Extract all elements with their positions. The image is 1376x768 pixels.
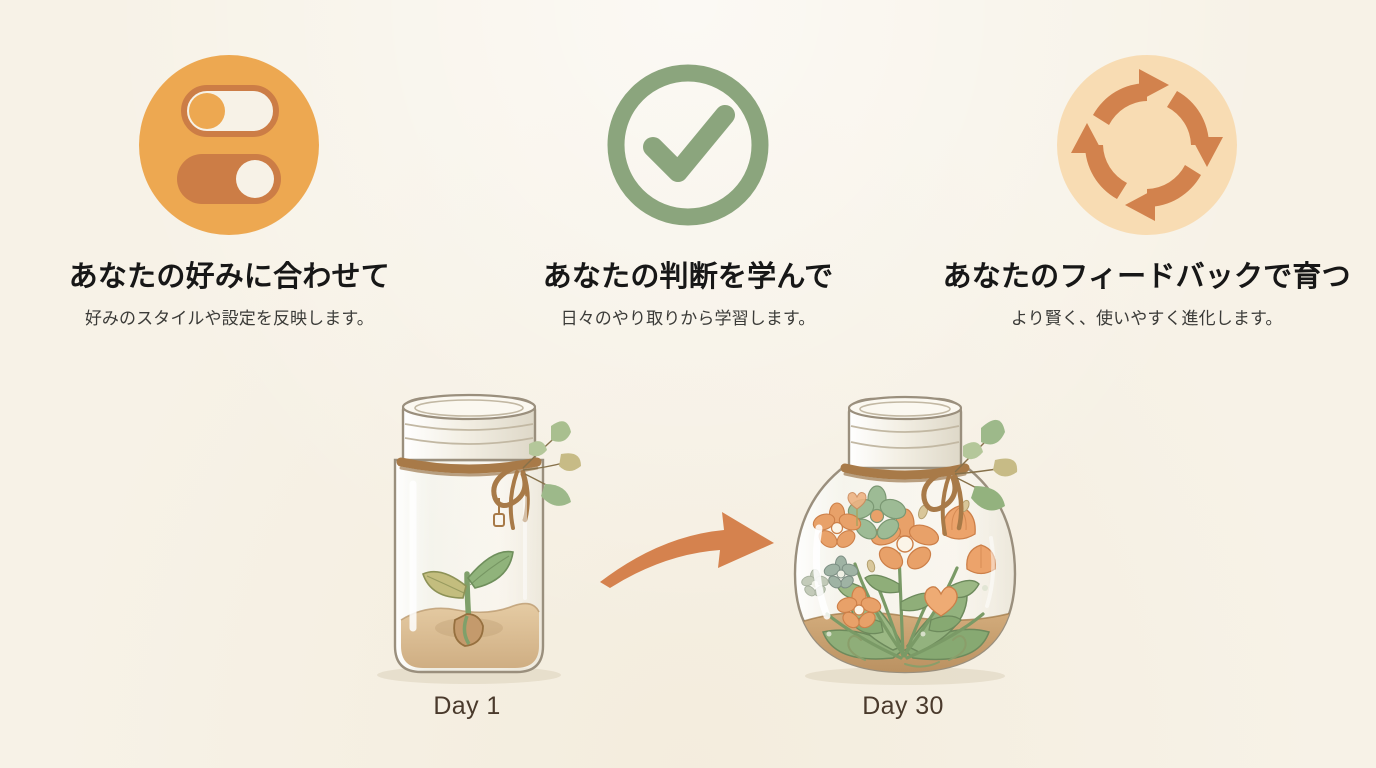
- jar-day-30: [753, 388, 1053, 688]
- feature-row: あなたの好みに合わせて 好みのスタイルや設定を反映します。 あなたの判断を学んで…: [0, 55, 1376, 329]
- jar-day-1: [317, 388, 617, 688]
- cycle-arrows-icon: [1057, 55, 1237, 235]
- feature-item-feedback: あなたのフィードバックで育つ より賢く、使いやすく進化します。: [917, 55, 1376, 329]
- check-circle-icon: [598, 55, 778, 235]
- feature-title: あなたのフィードバックで育つ: [943, 261, 1351, 294]
- feature-title: あなたの判断を学んで: [543, 261, 834, 294]
- feature-subtitle: 好みのスタイルや設定を反映します。: [85, 304, 374, 329]
- caption-row: Day 1 Day 30: [0, 692, 1376, 732]
- feature-subtitle: 日々のやり取りから学習します。: [561, 304, 816, 329]
- feature-title: あなたの好みに合わせて: [69, 261, 390, 294]
- caption-day-1: Day 1: [337, 692, 597, 721]
- caption-day-30: Day 30: [773, 692, 1033, 721]
- feature-item-preferences: あなたの好みに合わせて 好みのスタイルや設定を反映します。: [0, 55, 459, 329]
- feature-subtitle: より賢く、使いやすく進化します。: [1011, 304, 1283, 329]
- toggles-icon: [139, 55, 319, 235]
- feature-item-learning: あなたの判断を学んで 日々のやり取りから学習します。: [459, 55, 918, 329]
- illustration-row: [0, 388, 1376, 698]
